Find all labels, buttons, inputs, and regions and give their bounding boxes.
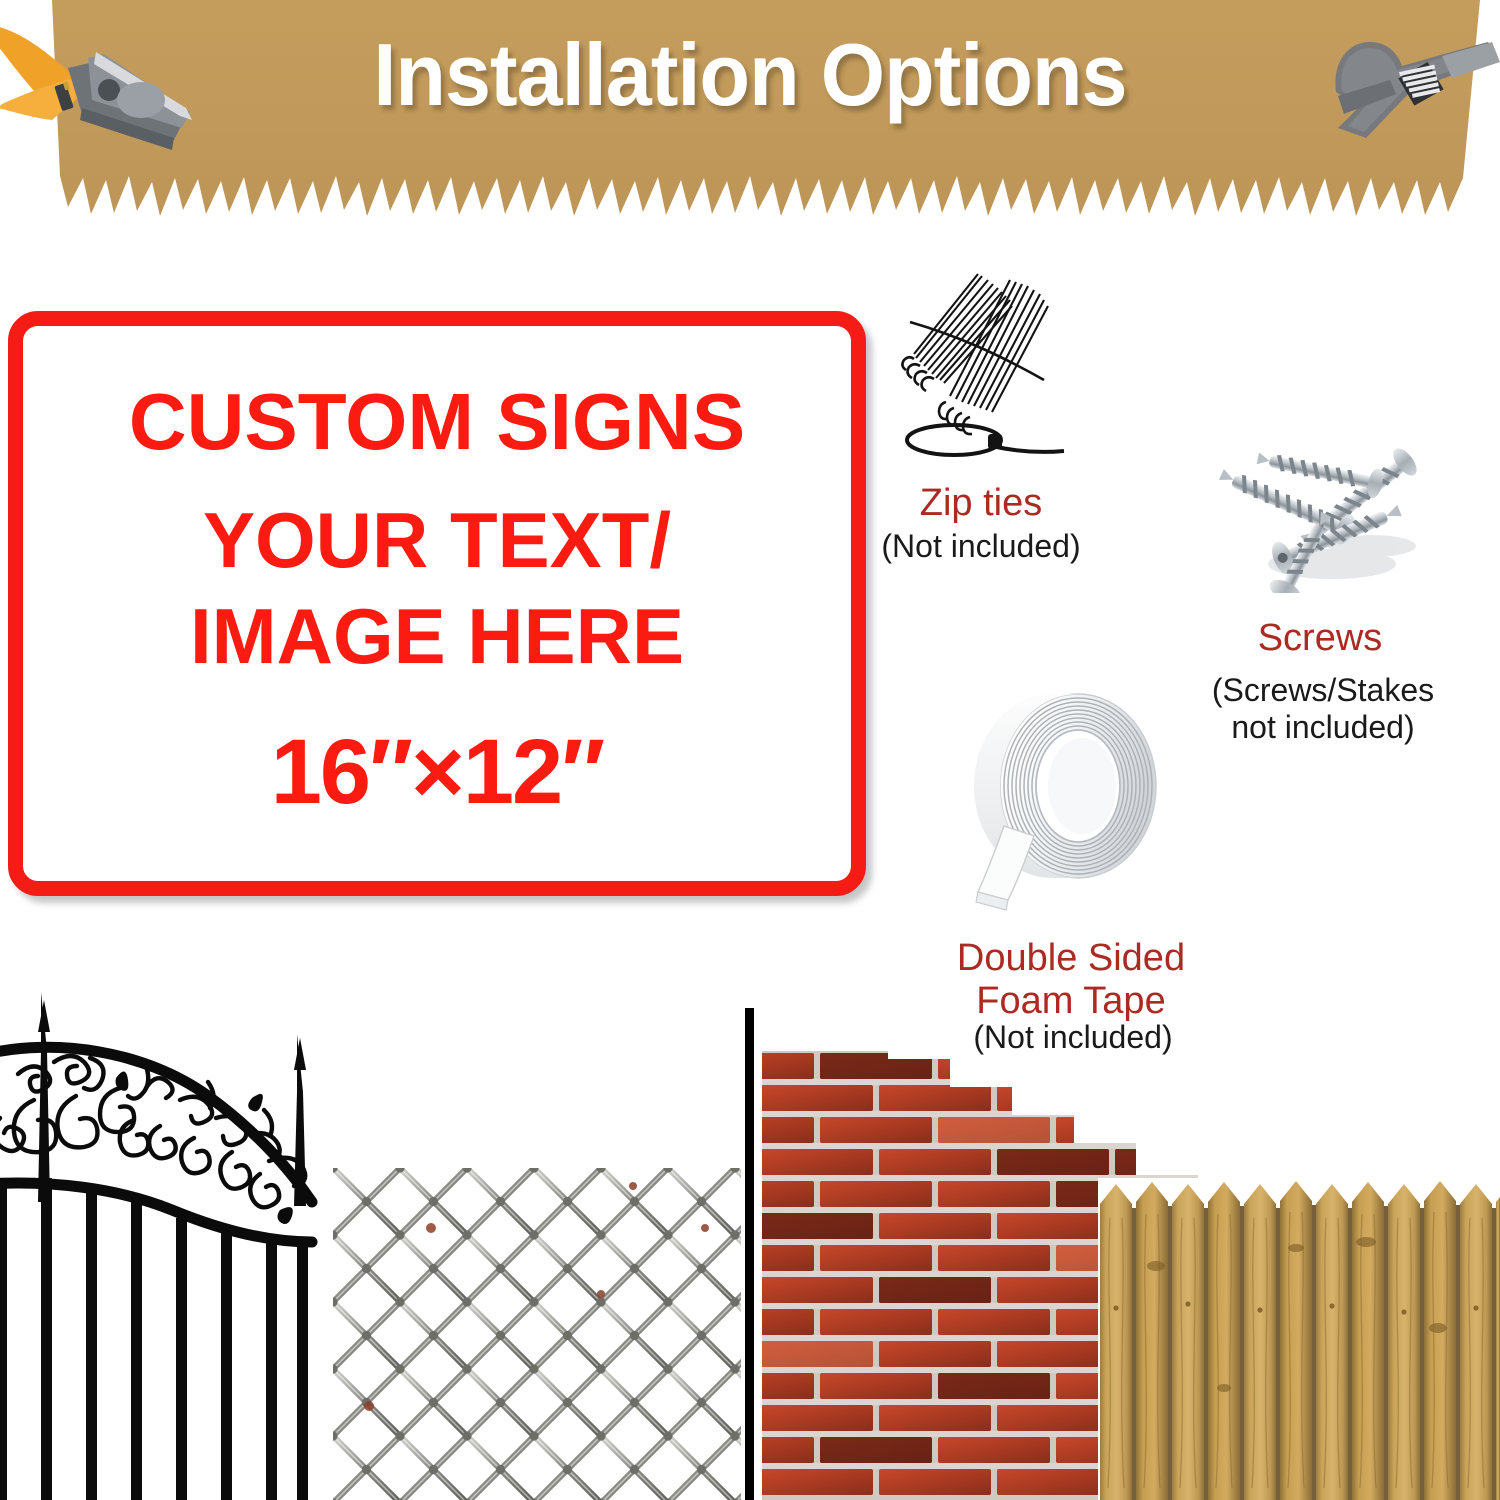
page-title: Installation Options (45, 24, 1455, 126)
wrought-iron-gate-icon (0, 992, 346, 1500)
screws-sublabel-line-2: not included) (1178, 709, 1468, 746)
section-divider (745, 1008, 754, 1500)
sign-dimensions: 16″×12″ (23, 720, 851, 825)
zip-ties-label: Zip ties (866, 482, 1096, 525)
foam-tape-label-line-1: Double Sided (946, 937, 1196, 980)
chain-link-fence-icon (333, 1168, 741, 1500)
custom-sign-preview: CUSTOM SIGNS YOUR TEXT/ IMAGE HERE 16″×1… (8, 311, 866, 896)
zip-ties-icon (892, 262, 1072, 462)
sign-line-1: CUSTOM SIGNS (23, 376, 851, 468)
double-sided-foam-tape-icon (960, 686, 1185, 921)
screws-icon (1212, 438, 1447, 593)
sign-line-3: IMAGE HERE (23, 591, 851, 682)
screws-sublabel: (Screws/Stakes not included) (1178, 672, 1468, 746)
sign-line-2: YOUR TEXT/ (23, 495, 851, 586)
wood-picket-fence-icon (1098, 1178, 1500, 1500)
screws-label: Screws (1200, 617, 1440, 660)
zip-ties-sublabel: (Not included) (846, 528, 1116, 565)
screws-sublabel-line-1: (Screws/Stakes (1178, 672, 1468, 709)
header-banner: Installation Options (0, 0, 1500, 232)
